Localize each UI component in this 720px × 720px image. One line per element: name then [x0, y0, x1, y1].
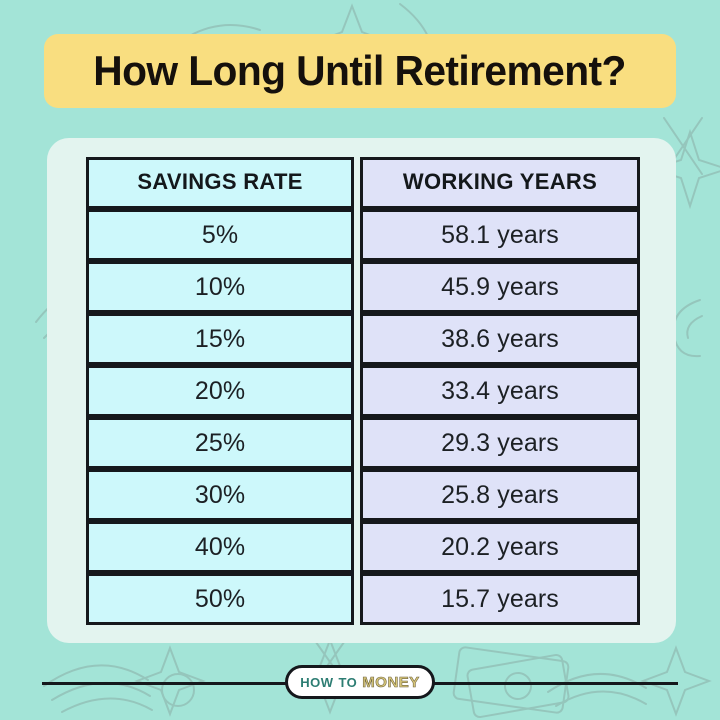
cell-working-years: 29.3 years: [360, 417, 640, 469]
cell-working-years: 38.6 years: [360, 313, 640, 365]
table-row: 10% 45.9 years: [86, 261, 640, 313]
cell-savings-rate: 10%: [86, 261, 354, 313]
page-title: How Long Until Retirement?: [94, 47, 627, 95]
logo-money-text: MONEY: [362, 674, 420, 691]
table-body: 5% 58.1 years 10% 45.9 years 15% 38.6 ye…: [86, 209, 640, 625]
cell-savings-rate: 20%: [86, 365, 354, 417]
cell-savings-rate: 15%: [86, 313, 354, 365]
table-row: 30% 25.8 years: [86, 469, 640, 521]
header-cell-working-years: WORKING YEARS: [360, 157, 640, 209]
cell-working-years: 45.9 years: [360, 261, 640, 313]
cell-savings-rate: 25%: [86, 417, 354, 469]
table-row: 40% 20.2 years: [86, 521, 640, 573]
table-row: 50% 15.7 years: [86, 573, 640, 625]
cell-savings-rate: 30%: [86, 469, 354, 521]
doodle-sparkle-bottom-left: [137, 648, 203, 714]
logo-to-text: TO: [338, 675, 357, 690]
cell-savings-rate: 50%: [86, 573, 354, 625]
table-row: 5% 58.1 years: [86, 209, 640, 261]
cell-working-years: 58.1 years: [360, 209, 640, 261]
table-row: 15% 38.6 years: [86, 313, 640, 365]
cell-savings-rate: 40%: [86, 521, 354, 573]
doodle-bill-mid-right: [453, 647, 569, 714]
retirement-table: SAVINGS RATE WORKING YEARS 5% 58.1 years…: [86, 157, 640, 625]
title-banner: How Long Until Retirement?: [44, 34, 676, 108]
cell-working-years: 20.2 years: [360, 521, 640, 573]
table-row: 25% 29.3 years: [86, 417, 640, 469]
header-cell-savings-rate: SAVINGS RATE: [86, 157, 354, 209]
brand-logo-badge: HOW TO MONEY: [285, 665, 435, 699]
doodle-sparkle-bottom-right: [643, 648, 709, 714]
table-row: 20% 33.4 years: [86, 365, 640, 417]
cell-savings-rate: 5%: [86, 209, 354, 261]
table-header-row: SAVINGS RATE WORKING YEARS: [86, 157, 640, 209]
doodle-swirl-bottom-left: [44, 665, 152, 712]
doodle-swirl-bottom-center: [548, 674, 646, 706]
doodle-bill-bottom-right: [467, 654, 570, 718]
cell-working-years: 25.8 years: [360, 469, 640, 521]
cell-working-years: 33.4 years: [360, 365, 640, 417]
cell-working-years: 15.7 years: [360, 573, 640, 625]
doodle-coin-left: [162, 674, 194, 706]
logo-how-text: HOW: [300, 675, 333, 690]
doodle-spiral-right: [674, 300, 702, 356]
